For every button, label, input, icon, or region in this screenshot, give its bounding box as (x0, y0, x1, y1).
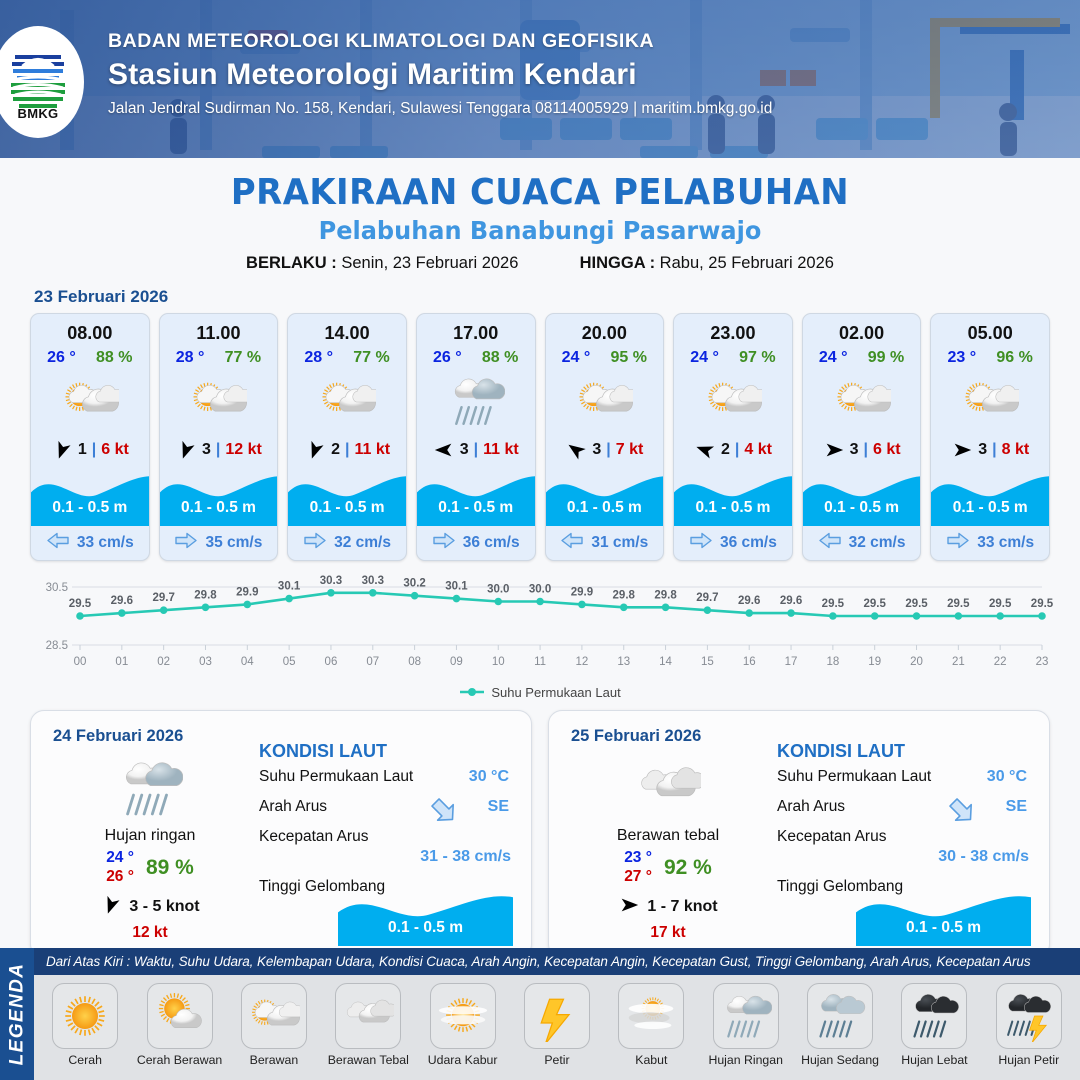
card-time: 02.00 (803, 314, 921, 344)
weather-berawan-icon (241, 983, 307, 1049)
wind-separator: | (863, 441, 867, 459)
daily-date: 24 Februari 2026 (53, 727, 183, 746)
legend-item-label: Cerah (40, 1053, 130, 1067)
wind-speed: 1 (78, 441, 87, 459)
current-direction-icon (947, 796, 977, 831)
card-time: 20.00 (546, 314, 664, 344)
sst-value: 30 °C (987, 768, 1027, 786)
wave-block: 0.1 - 0.5 m (338, 888, 513, 946)
svg-text:14: 14 (659, 656, 672, 668)
daily-wind-range: 1 - 7 knot (647, 898, 717, 916)
wave-block: 0.1 - 0.5 m (31, 468, 149, 526)
svg-text:02: 02 (157, 656, 170, 668)
wind-separator: | (606, 441, 610, 459)
card-time: 14.00 (288, 314, 406, 344)
weather-hujan-ringan-icon (713, 983, 779, 1049)
weather-hujan-ringan-icon (417, 370, 535, 432)
gust-speed: 4 kt (744, 441, 772, 459)
daily-panel: 24 Februari 2026 Hujan ringan 24 ° 26 ° … (30, 710, 532, 958)
current-direction-icon (432, 532, 456, 554)
svg-text:29.7: 29.7 (696, 592, 718, 604)
daily-humidity: 92 % (664, 856, 712, 880)
wind-separator: | (92, 441, 96, 459)
current-direction-value: SE (1006, 798, 1027, 816)
wave-height: 0.1 - 0.5 m (546, 499, 664, 517)
svg-text:29.5: 29.5 (822, 598, 845, 610)
legend-item: Cerah (40, 983, 130, 1067)
weather-hujan-petir-icon (996, 983, 1062, 1049)
svg-text:22: 22 (994, 656, 1007, 668)
svg-text:29.5: 29.5 (69, 598, 92, 610)
svg-text:12: 12 (576, 656, 589, 668)
wave-block: 0.1 - 0.5 m (856, 888, 1031, 946)
wind-speed: 2 (721, 441, 730, 459)
daily-forecast-row: 24 Februari 2026 Hujan ringan 24 ° 26 ° … (0, 700, 1080, 958)
wind-direction-icon (304, 439, 326, 461)
legend-side-bar: LEGENDA (0, 948, 34, 1080)
card-humidity: 99 % (868, 349, 904, 367)
hourly-date-label: 23 Februari 2026 (34, 287, 1080, 307)
wave-height: 0.1 - 0.5 m (931, 499, 1049, 517)
weather-berawan-icon (288, 370, 406, 432)
current-direction-icon (429, 796, 459, 831)
svg-text:30.0: 30.0 (487, 584, 509, 596)
wind-separator: | (992, 441, 996, 459)
weather-kabut-icon (618, 983, 684, 1049)
current-direction-icon (174, 532, 198, 554)
legend-item-label: Hujan Petir (984, 1053, 1074, 1067)
svg-text:13: 13 (617, 656, 630, 668)
svg-text:29.6: 29.6 (780, 595, 802, 607)
wave-height: 0.1 - 0.5 m (31, 499, 149, 517)
weather-berawan-icon (931, 370, 1049, 432)
wave-block: 0.1 - 0.5 m (803, 468, 921, 526)
card-temperature: 26 ° (433, 349, 462, 367)
svg-text:01: 01 (115, 656, 128, 668)
svg-text:29.9: 29.9 (571, 586, 593, 598)
hourly-card: 02.00 24 ° 99 % 3 | 6 kt 0.1 - 0.5 m (802, 313, 922, 561)
legend-note: Dari Atas Kiri : Waktu, Suhu Udara, Kele… (34, 948, 1080, 975)
hourly-card: 11.00 28 ° 77 % 3 | 12 kt 0.1 - 0.5 m (159, 313, 279, 561)
wave-height: 0.1 - 0.5 m (674, 499, 792, 517)
svg-text:19: 19 (868, 656, 881, 668)
card-temperature: 24 ° (562, 349, 591, 367)
weather-hujan-sedang-icon (807, 983, 873, 1049)
weather-berawan-icon (31, 370, 149, 432)
sea-condition-title: KONDISI LAUT (777, 741, 1035, 762)
station-address: Jalan Jendral Sudirman No. 158, Kendari,… (108, 100, 772, 118)
wind-direction-icon (175, 439, 197, 461)
hourly-card: 23.00 24 ° 97 % 2 | 4 kt 0.1 - 0.5 m (673, 313, 793, 561)
current-speed: 36 cm/s (463, 534, 520, 552)
gust-speed: 11 kt (354, 441, 390, 459)
current-speed: 33 cm/s (977, 534, 1034, 552)
svg-text:30.0: 30.0 (529, 584, 551, 596)
legend-item: Berawan Tebal (323, 983, 413, 1067)
card-humidity: 88 % (96, 349, 132, 367)
sea-condition-title: KONDISI LAUT (259, 741, 517, 762)
svg-text:29.9: 29.9 (236, 586, 258, 598)
wind-direction-icon (694, 439, 716, 461)
legend-item: Petir (512, 983, 602, 1067)
current-speed: 32 cm/s (334, 534, 391, 552)
gust-speed: 8 kt (1002, 441, 1030, 459)
current-direction-icon (818, 532, 842, 554)
hourly-card: 20.00 24 ° 95 % 3 | 7 kt 0.1 - 0.5 m (545, 313, 665, 561)
card-time: 17.00 (417, 314, 535, 344)
weather-cerah-berawan-icon (147, 983, 213, 1049)
sst-chart-svg: 30.528.500010203040506070809101112131415… (24, 573, 1056, 677)
svg-text:30.1: 30.1 (445, 581, 468, 593)
legend-item: Hujan Ringan (701, 983, 791, 1067)
svg-text:15: 15 (701, 656, 714, 668)
wind-speed: 3 (202, 441, 211, 459)
sst-label: Suhu Permukaan Laut (259, 768, 413, 785)
hourly-card: 17.00 26 ° 88 % 3 | 11 kt 0.1 - 0.5 m (416, 313, 536, 561)
card-humidity: 96 % (996, 349, 1032, 367)
daily-condition: Hujan ringan (45, 827, 255, 845)
card-temperature: 26 ° (47, 349, 76, 367)
daily-humidity: 89 % (146, 856, 194, 880)
wind-separator: | (216, 441, 220, 459)
legend-item-label: Hujan Ringan (701, 1053, 791, 1067)
daily-wind-range: 3 - 5 knot (129, 898, 199, 916)
svg-text:10: 10 (492, 656, 505, 668)
legend-item: Hujan Sedang (795, 983, 885, 1067)
current-speed-label: Kecepatan Arus (259, 828, 368, 845)
svg-text:29.5: 29.5 (1031, 598, 1054, 610)
hourly-card: 14.00 28 ° 77 % 2 | 11 kt 0.1 - 0.5 m (287, 313, 407, 561)
card-temperature: 28 ° (304, 349, 333, 367)
hourly-card: 05.00 23 ° 96 % 3 | 8 kt 0.1 - 0.5 m (930, 313, 1050, 561)
current-direction-icon (560, 532, 584, 554)
wave-height-value: 0.1 - 0.5 m (856, 919, 1031, 937)
legend-item-label: Berawan (229, 1053, 319, 1067)
svg-text:17: 17 (785, 656, 798, 668)
current-direction-value: SE (488, 798, 509, 816)
legend-item: Kabut (606, 983, 696, 1067)
valid-from-label: BERLAKU : (246, 254, 337, 272)
svg-text:30.2: 30.2 (403, 578, 425, 590)
sst-value: 30 °C (469, 768, 509, 786)
chart-legend-label: Suhu Permukaan Laut (491, 685, 620, 700)
weather-berawan-icon (674, 370, 792, 432)
daily-temp-min: 23 ° (624, 849, 652, 868)
card-time: 05.00 (931, 314, 1049, 344)
svg-text:04: 04 (241, 656, 254, 668)
wave-block: 0.1 - 0.5 m (546, 468, 664, 526)
wind-speed: 2 (331, 441, 340, 459)
svg-text:28.5: 28.5 (46, 640, 68, 652)
card-humidity: 97 % (739, 349, 775, 367)
card-humidity: 95 % (611, 349, 647, 367)
wind-direction-icon (951, 439, 973, 461)
wind-direction-icon (433, 439, 455, 461)
card-temperature: 24 ° (690, 349, 719, 367)
wave-block: 0.1 - 0.5 m (417, 468, 535, 526)
weather-udara-kabur-icon (430, 983, 496, 1049)
card-humidity: 88 % (482, 349, 518, 367)
legend-item: Hujan Petir (984, 983, 1074, 1067)
svg-text:29.8: 29.8 (613, 589, 636, 601)
svg-text:05: 05 (283, 656, 296, 668)
weather-berawan-tebal-icon (563, 753, 773, 823)
wind-direction-icon (51, 439, 73, 461)
wind-speed: 3 (592, 441, 601, 459)
svg-text:29.5: 29.5 (947, 598, 970, 610)
wind-direction-icon (618, 894, 640, 921)
svg-text:18: 18 (826, 656, 839, 668)
gust-speed: 6 kt (873, 441, 901, 459)
valid-from-value: Senin, 23 Februari 2026 (341, 254, 518, 272)
svg-text:08: 08 (408, 656, 421, 668)
card-temperature: 28 ° (176, 349, 205, 367)
wave-block: 0.1 - 0.5 m (674, 468, 792, 526)
svg-text:30.3: 30.3 (320, 575, 342, 587)
svg-text:07: 07 (366, 656, 379, 668)
current-speed: 36 cm/s (720, 534, 777, 552)
current-speed: 35 cm/s (205, 534, 262, 552)
card-time: 08.00 (31, 314, 149, 344)
legend-item-label: Udara Kabur (417, 1053, 507, 1067)
gust-speed: 11 kt (483, 441, 519, 459)
weather-berawan-icon (160, 370, 278, 432)
svg-text:21: 21 (952, 656, 965, 668)
svg-text:30.3: 30.3 (362, 575, 384, 587)
svg-text:30.5: 30.5 (46, 582, 68, 594)
daily-date: 25 Februari 2026 (571, 727, 701, 746)
wave-block: 0.1 - 0.5 m (931, 468, 1049, 526)
legend-side-label: LEGENDA (6, 963, 28, 1066)
wind-separator: | (345, 441, 349, 459)
svg-text:03: 03 (199, 656, 212, 668)
current-direction-icon (46, 532, 70, 554)
weather-berawan-tebal-icon (335, 983, 401, 1049)
legend-items: Cerah Cerah Berawan Berawan (34, 975, 1080, 1067)
weather-hujan-ringan-icon (45, 753, 255, 823)
svg-text:00: 00 (74, 656, 87, 668)
daily-gust: 17 kt (563, 924, 773, 942)
legend-item: Udara Kabur (417, 983, 507, 1067)
legend-item: Hujan Lebat (889, 983, 979, 1067)
wave-height-value: 0.1 - 0.5 m (338, 919, 513, 937)
svg-text:20: 20 (910, 656, 923, 668)
current-speed: 32 cm/s (849, 534, 906, 552)
title-section: PRAKIRAAN CUACA PELABUHAN Pelabuhan Bana… (0, 158, 1080, 273)
wave-block: 0.1 - 0.5 m (288, 468, 406, 526)
current-speed: 31 cm/s (591, 534, 648, 552)
svg-text:29.5: 29.5 (864, 598, 887, 610)
svg-text:29.5: 29.5 (989, 598, 1012, 610)
wind-direction-icon (565, 439, 587, 461)
wind-separator: | (735, 441, 739, 459)
wind-direction-icon (100, 894, 122, 921)
sst-chart: 30.528.500010203040506070809101112131415… (24, 573, 1056, 683)
hourly-card: 08.00 26 ° 88 % 1 | 6 kt 0.1 - 0.5 m (30, 313, 150, 561)
sst-label: Suhu Permukaan Laut (777, 768, 931, 785)
legend-section: LEGENDA Dari Atas Kiri : Waktu, Suhu Uda… (0, 948, 1080, 1080)
svg-text:29.6: 29.6 (738, 595, 760, 607)
wind-speed: 3 (978, 441, 987, 459)
current-speed-value: 30 - 38 cm/s (938, 848, 1029, 866)
card-temperature: 24 ° (819, 349, 848, 367)
card-temperature: 23 ° (948, 349, 977, 367)
wind-direction-icon (823, 439, 845, 461)
svg-text:23: 23 (1036, 656, 1049, 668)
svg-text:11: 11 (534, 656, 546, 668)
wave-block: 0.1 - 0.5 m (160, 468, 278, 526)
gust-speed: 7 kt (616, 441, 644, 459)
page-header: BMKG BADAN METEOROLOGI KLIMATOLOGI DAN G… (0, 0, 1080, 158)
legend-item-label: Hujan Lebat (889, 1053, 979, 1067)
svg-text:29.6: 29.6 (111, 595, 133, 607)
svg-text:29.5: 29.5 (905, 598, 928, 610)
wave-height: 0.1 - 0.5 m (803, 499, 921, 517)
wind-speed: 3 (850, 441, 859, 459)
svg-text:29.7: 29.7 (152, 592, 174, 604)
weather-berawan-icon (546, 370, 664, 432)
current-direction-label: Arah Arus (259, 798, 327, 815)
legend-item-label: Kabut (606, 1053, 696, 1067)
wind-separator: | (474, 441, 478, 459)
bmkg-logo-text: BMKG (5, 106, 71, 121)
wave-height: 0.1 - 0.5 m (288, 499, 406, 517)
card-time: 11.00 (160, 314, 278, 344)
svg-text:16: 16 (743, 656, 756, 668)
legend-item-label: Hujan Sedang (795, 1053, 885, 1067)
weather-hujan-lebat-icon (901, 983, 967, 1049)
valid-until-value: Rabu, 25 Februari 2026 (660, 254, 834, 272)
legend-item-label: Petir (512, 1053, 602, 1067)
svg-text:29.8: 29.8 (194, 589, 217, 601)
wave-height: 0.1 - 0.5 m (417, 499, 535, 517)
gust-speed: 12 kt (225, 441, 261, 459)
gust-speed: 6 kt (101, 441, 129, 459)
weather-petir-icon (524, 983, 590, 1049)
chart-legend: Suhu Permukaan Laut (0, 685, 1080, 700)
legend-item-label: Berawan Tebal (323, 1053, 413, 1067)
card-humidity: 77 % (353, 349, 389, 367)
current-direction-icon (946, 532, 970, 554)
svg-text:09: 09 (450, 656, 463, 668)
weather-berawan-icon (803, 370, 921, 432)
card-time: 23.00 (674, 314, 792, 344)
daily-condition: Berawan tebal (563, 827, 773, 845)
legend-item: Berawan (229, 983, 319, 1067)
svg-text:06: 06 (325, 656, 338, 668)
current-speed-label: Kecepatan Arus (777, 828, 886, 845)
legend-item: Cerah Berawan (134, 983, 224, 1067)
daily-temp-max: 27 ° (624, 868, 652, 887)
current-speed-value: 31 - 38 cm/s (420, 848, 511, 866)
current-direction-icon (303, 532, 327, 554)
weather-cerah-icon (52, 983, 118, 1049)
page-title: PRAKIRAAN CUACA PELABUHAN (32, 172, 1047, 213)
validity-line: BERLAKU : Senin, 23 Februari 2026 HINGGA… (0, 254, 1080, 273)
svg-text:29.8: 29.8 (654, 589, 677, 601)
card-humidity: 77 % (225, 349, 261, 367)
current-direction-label: Arah Arus (777, 798, 845, 815)
current-speed: 33 cm/s (77, 534, 134, 552)
daily-temp-max: 26 ° (106, 868, 134, 887)
daily-temp-min: 24 ° (106, 849, 134, 868)
legend-item-label: Cerah Berawan (134, 1053, 224, 1067)
station-name: Stasiun Meteorologi Maritim Kendari (108, 58, 772, 92)
hourly-forecast-row: 08.00 26 ° 88 % 1 | 6 kt 0.1 - 0.5 m (0, 313, 1080, 561)
current-direction-icon (689, 532, 713, 554)
wave-height: 0.1 - 0.5 m (160, 499, 278, 517)
daily-panel: 25 Februari 2026 Berawan tebal 23 ° 27 °… (548, 710, 1050, 958)
page-subtitle: Pelabuhan Banabungi Pasarwajo (22, 216, 1059, 245)
daily-gust: 12 kt (45, 924, 255, 942)
wind-speed: 3 (460, 441, 469, 459)
svg-text:30.1: 30.1 (278, 581, 301, 593)
valid-until-label: HINGGA : (580, 254, 655, 272)
chart-legend-marker (459, 685, 485, 700)
agency-name: BADAN METEOROLOGI KLIMATOLOGI DAN GEOFIS… (108, 30, 772, 53)
